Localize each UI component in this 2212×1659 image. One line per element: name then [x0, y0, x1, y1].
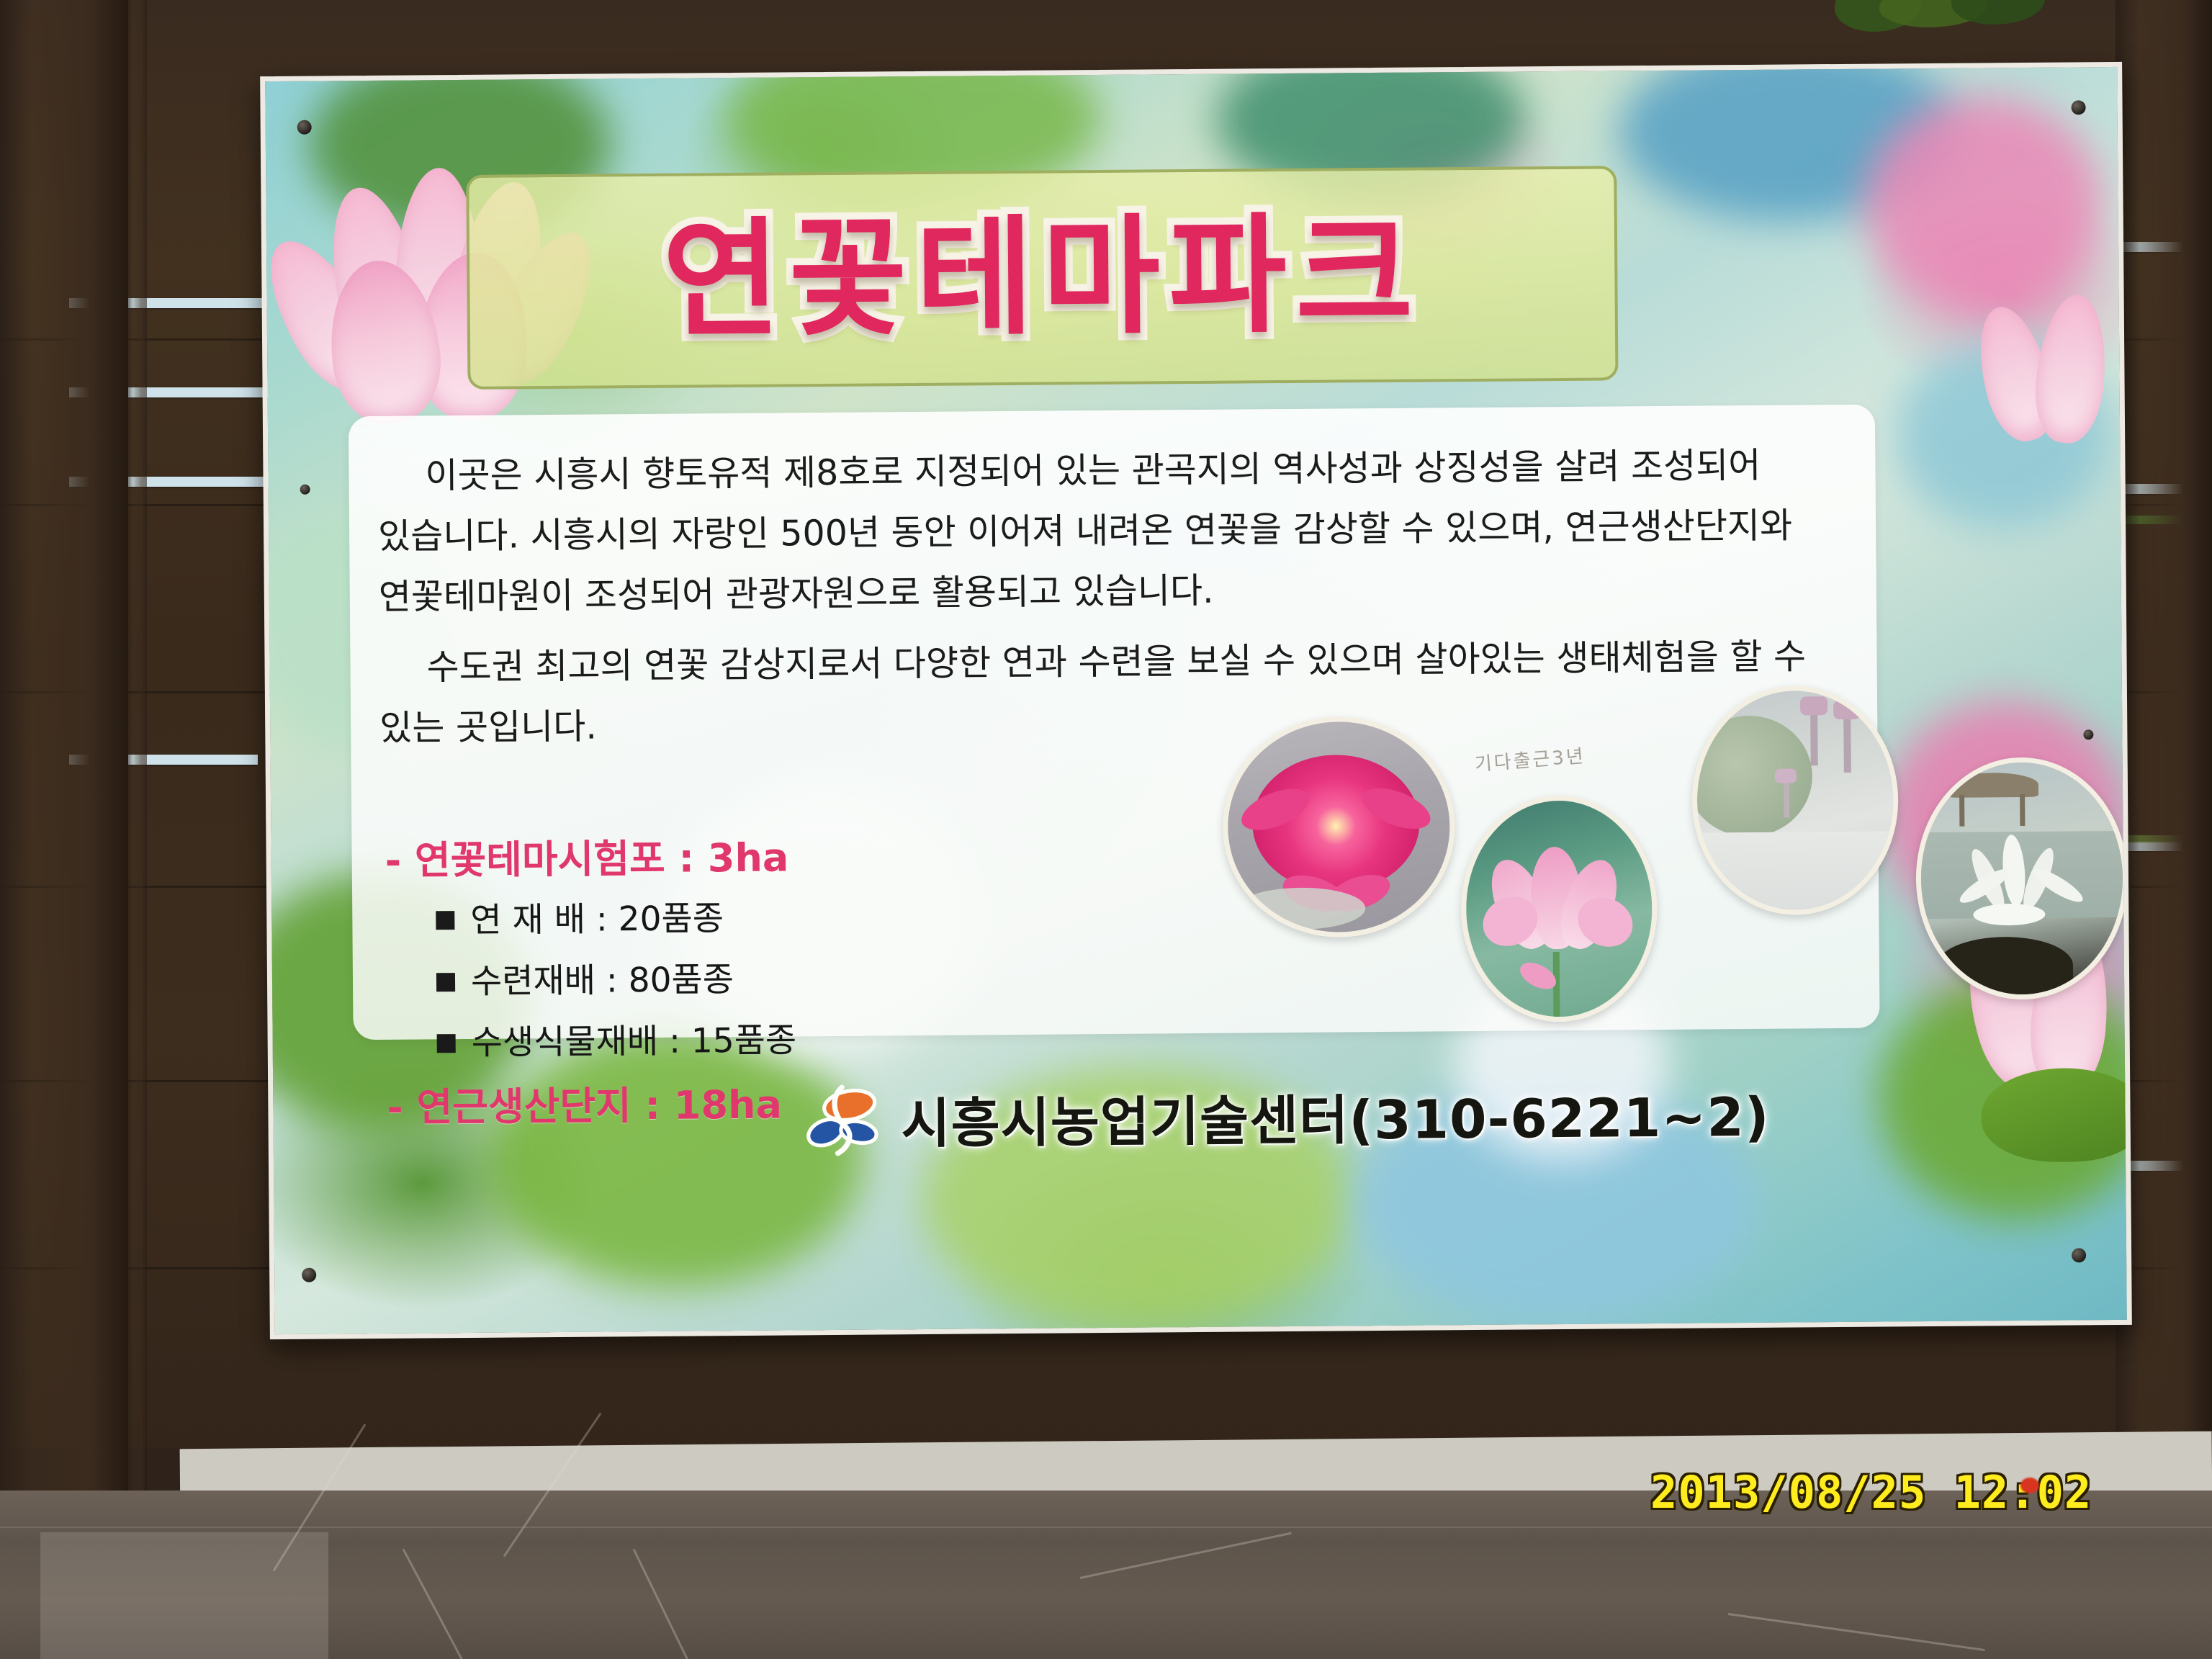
lotus-leaf — [1981, 1068, 2132, 1163]
fence-post-left — [0, 0, 128, 1659]
list-item-label: 연 재 배 : 20품종 — [470, 901, 724, 938]
facility-list: - 연꽃테마시험포 : 3ha 연 재 배 : 20품종 수련재배 : 80품종… — [385, 837, 797, 1150]
list-item-main: - 연근생산단지 : 18ha — [387, 1084, 797, 1128]
list-item: 수생식물재배 : 15품종 — [437, 1023, 797, 1061]
square-bullet-icon — [436, 911, 454, 930]
list-item-label: 수생식물재배 : 15품종 — [472, 1023, 797, 1061]
mounting-screw — [297, 120, 312, 135]
mounting-screw — [300, 485, 310, 495]
red-lens-artifact — [2020, 1478, 2039, 1493]
pavilion-pillar — [1959, 795, 1964, 827]
list-item-label: 수련재배 : 80품종 — [471, 962, 734, 999]
list-item: 수련재배 : 80품종 — [436, 961, 796, 999]
dark-leaf — [1936, 936, 2074, 994]
page-title: 연꽃테마파크 — [662, 211, 1422, 345]
body-paragraph-line-4: 수도권 최고의 연꽃 감상지로서 다양한 연과 수련을 보실 수 있으며 살아있… — [395, 626, 1806, 698]
pond-blur-blob — [1863, 96, 2103, 314]
mounting-screw — [2072, 1248, 2086, 1262]
mounting-screw — [2083, 729, 2093, 739]
water-lily-bloom — [1252, 755, 1420, 893]
pavilion-pillar — [2020, 794, 2025, 826]
lotus-flower-graphic-right-top — [1967, 283, 2131, 464]
body-paragraph-line-1: 이곳은 시흥시 향토유적 제8호로 지정되어 있는 관곡지의 역사성과 상징성을… — [393, 436, 1761, 507]
seedpod-head — [1800, 696, 1827, 715]
body-paragraph-line-2: 있습니다. 시흥시의 자랑인 500년 동안 이어져 내려온 연꽃을 감상할 수… — [378, 495, 1793, 567]
rail-scratch — [0, 1527, 2212, 1528]
list-item-main: - 연꽃테마시험포 : 3ha — [385, 837, 795, 881]
lotus-theme-park-information-sign[interactable]: 연꽃테마파크 이곳은 시흥시 향토유적 제8호로 지정되어 있는 관곡지의 역사… — [260, 62, 2132, 1339]
body-paragraph-line-5: 있는 곳입니다. — [379, 697, 597, 759]
white-lily-bloom — [1960, 837, 2083, 945]
info-panel: 이곳은 시흥시 향토유적 제8호로 지정되어 있는 관곡지의 역사성과 상징성을… — [349, 405, 1880, 1040]
pink-water-lily-photo — [1222, 716, 1455, 938]
footer: 시흥시농업기술센터(310-6221~2) — [806, 1074, 1770, 1159]
list-item: 연 재 배 : 20품종 — [436, 900, 796, 938]
square-bullet-icon — [436, 973, 455, 992]
seedpod-head — [1833, 701, 1861, 719]
organization-contact: 시흥시농업기술센터(310-6221~2) — [901, 1074, 1770, 1158]
water-surface — [1697, 831, 1894, 910]
shiheung-city-logo-icon — [806, 1082, 881, 1158]
fence-post-left-inner — [128, 0, 147, 1659]
title-banner: 연꽃테마파크 — [466, 166, 1618, 390]
mounting-screw — [302, 1268, 316, 1282]
handwritten-graffiti: 기다출근3년 — [1473, 741, 1586, 776]
fence-post-right — [2116, 0, 2212, 1659]
square-bullet-icon — [437, 1034, 456, 1053]
white-water-lily-pavilion-photo — [1915, 757, 2129, 1000]
lotus-pond-seedpods-photo — [1691, 685, 1899, 915]
seedpod-head — [1775, 768, 1797, 783]
pink-lotus-blossom-photo — [1460, 795, 1658, 1022]
lotus-petal — [2031, 292, 2112, 446]
body-paragraph-line-3: 연꽃테마원이 조성되어 관광자원으로 활용되고 있습니다. — [379, 561, 1214, 628]
mounting-screw — [2071, 100, 2085, 114]
lotus-bloom — [1485, 850, 1629, 960]
photo-scene: 연꽃테마파크 이곳은 시흥시 향토유적 제8호로 지정되어 있는 관곡지의 역사… — [0, 0, 2212, 1659]
